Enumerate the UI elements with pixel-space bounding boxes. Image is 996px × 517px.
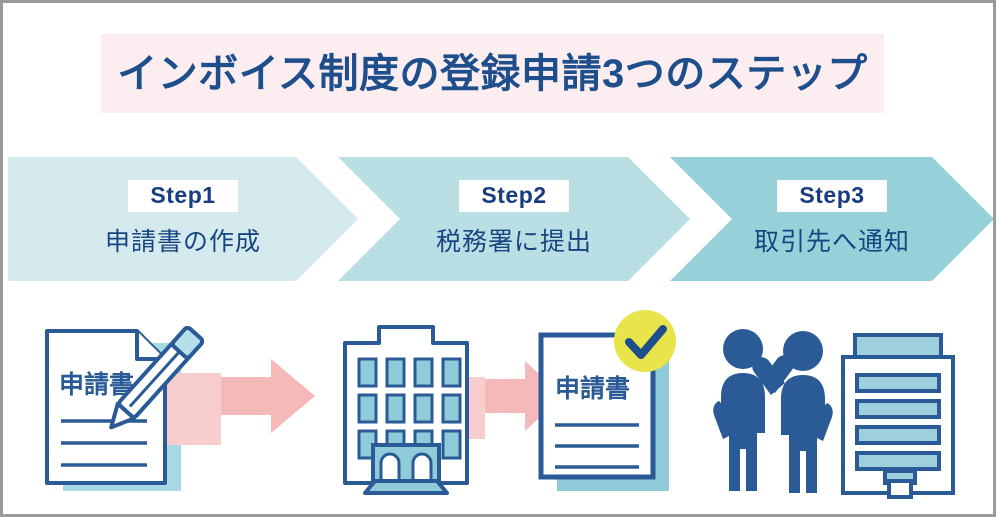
office-shape	[831, 329, 971, 499]
people-shape	[711, 321, 835, 497]
svg-text:申請書: 申請書	[555, 374, 630, 403]
document-pen-shape: 申請書	[35, 321, 221, 497]
step-3-badge: Step3	[777, 180, 886, 212]
office-building-icon	[831, 329, 971, 499]
step-item-3[interactable]: Step3 取引先へ通知	[670, 157, 994, 281]
page-title: インボイス制度の登録申請3つのステップ	[117, 54, 868, 94]
document-with-pen-icon: 申請書	[35, 321, 221, 497]
two-people-high-five-icon	[711, 321, 835, 497]
document-approved-icon: 申請書	[525, 307, 695, 497]
illustration-row: 申請書	[3, 299, 996, 517]
step-1-label: 申請書の作成	[105, 222, 261, 258]
infographic-canvas: インボイス制度の登録申請3つのステップ Step1 申請書の作成 Step2 税…	[0, 0, 996, 517]
tax-office-building-icon	[335, 315, 485, 497]
svg-text:申請書: 申請書	[59, 370, 134, 399]
step-item-2[interactable]: Step2 税務署に提出	[338, 157, 690, 281]
tax-office-shape	[335, 315, 485, 497]
title-banner: インボイス制度の登録申請3つのステップ	[101, 34, 884, 113]
document-check-shape: 申請書	[525, 307, 695, 497]
step-item-1[interactable]: Step1 申請書の作成	[8, 157, 358, 281]
step-band: Step1 申請書の作成 Step2 税務署に提出 Step3 取引先へ通知	[8, 157, 994, 281]
step-3-label: 取引先へ通知	[754, 222, 910, 258]
step-1-badge: Step1	[128, 180, 237, 212]
step-2-badge: Step2	[459, 180, 568, 212]
step-2-label: 税務署に提出	[436, 222, 592, 258]
